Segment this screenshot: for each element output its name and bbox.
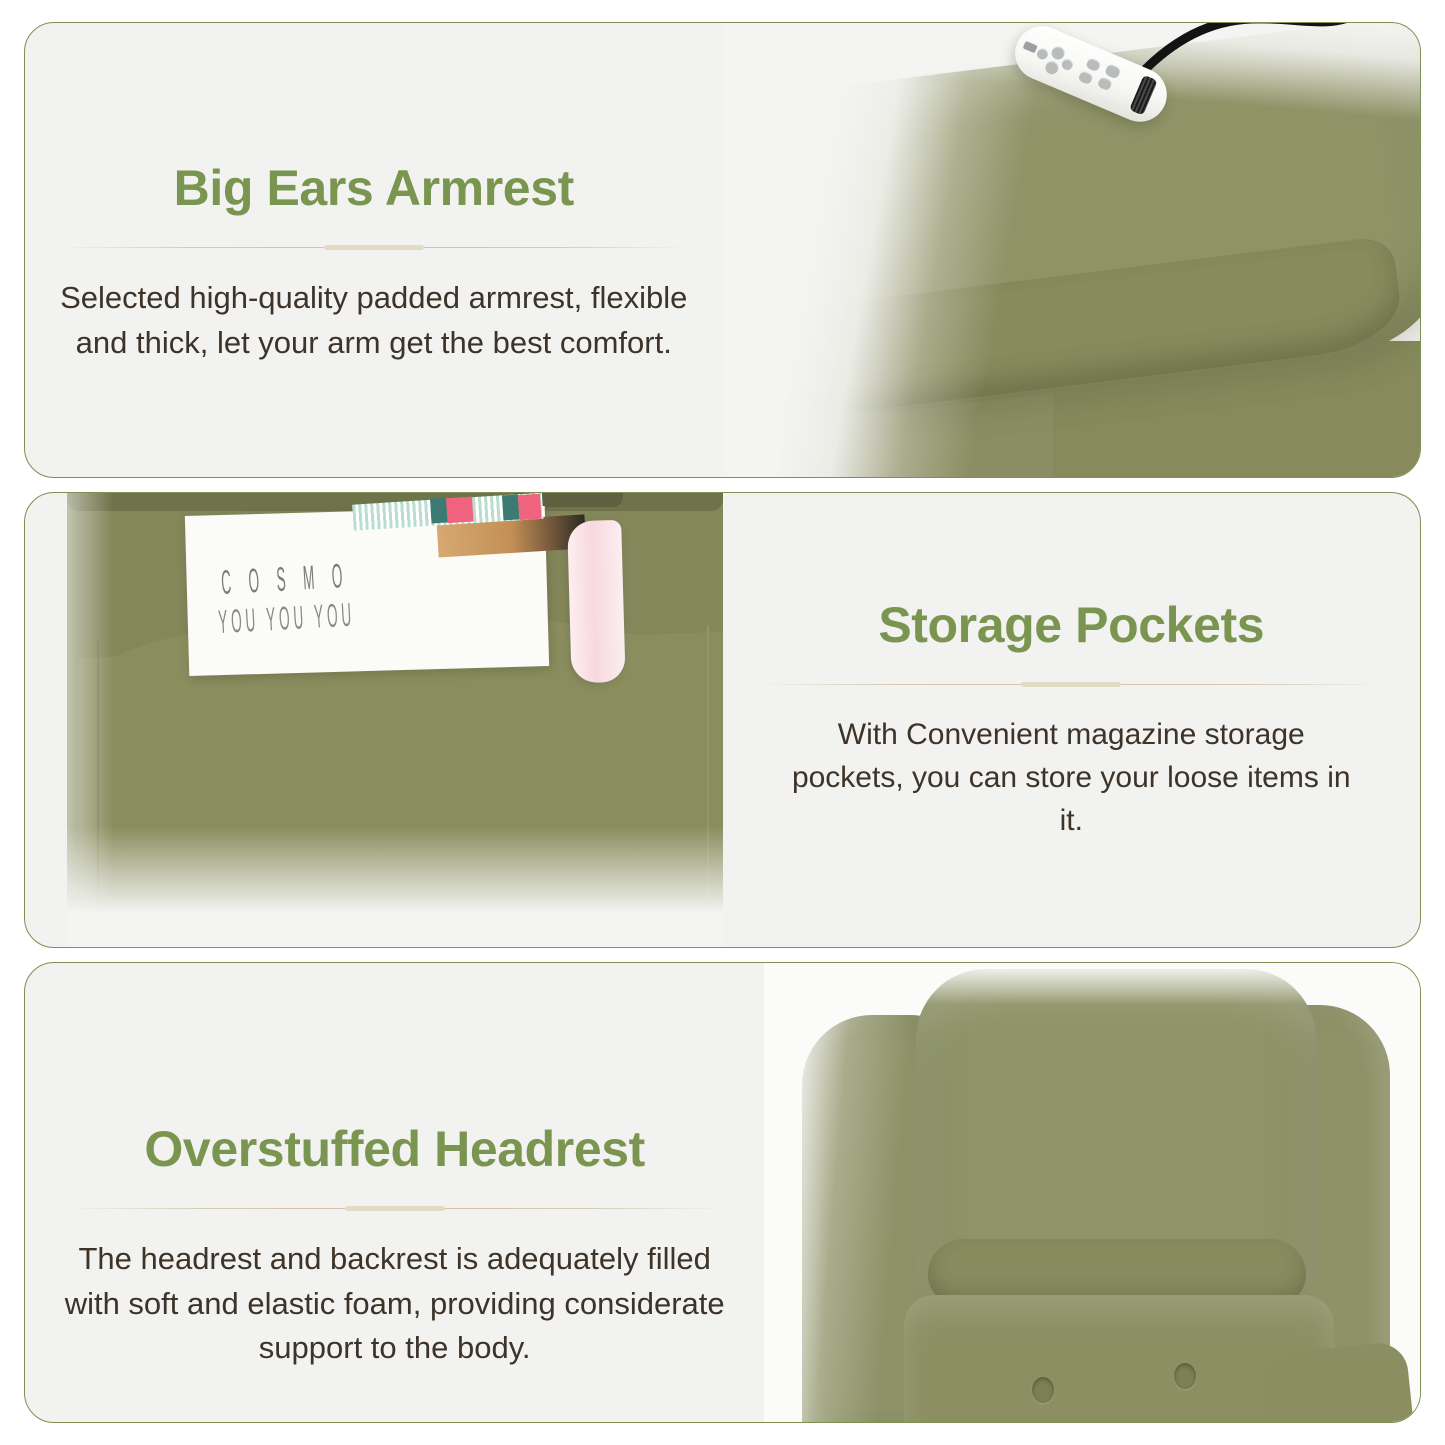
magazine-color-block-pink-1 xyxy=(446,497,474,524)
panel-2-heading: Storage Pockets xyxy=(878,598,1264,652)
product-feature-infographic: Big Ears Armrest Selected high-quality p… xyxy=(0,0,1445,1445)
panel-1-body-text: Selected high-quality padded armrest, fl… xyxy=(59,276,689,365)
armrest-cushion-photo xyxy=(723,23,1421,477)
armrest-scene xyxy=(723,23,1421,477)
feature-panel-big-ears-armrest: Big Ears Armrest Selected high-quality p… xyxy=(24,22,1421,478)
storage-pocket-photo: C O S M O YOU YOU YOU xyxy=(67,493,723,947)
pocket-bottom-fade xyxy=(67,827,723,947)
panel-3-heading: Overstuffed Headrest xyxy=(144,1122,645,1176)
feature-panel-storage-pockets: Storage Pockets With Convenient magazine… xyxy=(24,492,1421,948)
feature-panel-overstuffed-headrest: Overstuffed Headrest The headrest and ba… xyxy=(24,962,1421,1423)
headrest-scene xyxy=(764,963,1420,1422)
storage-pocket-scene: C O S M O YOU YOU YOU xyxy=(67,493,723,947)
panel-2-text-column: Storage Pockets With Convenient magazine… xyxy=(723,493,1421,947)
panel-1-text-column: Big Ears Armrest Selected high-quality p… xyxy=(25,23,723,477)
panel-1-divider xyxy=(59,245,689,250)
magazine-rolled-page xyxy=(567,520,626,683)
panel-1-heading: Big Ears Armrest xyxy=(174,161,574,215)
panel-3-divider xyxy=(65,1206,725,1211)
pocket-left-fade xyxy=(67,493,113,947)
magazine-color-block-pink-2 xyxy=(518,494,542,520)
panel-2-divider xyxy=(757,682,1387,687)
magazine-color-block-teal-2 xyxy=(502,494,520,520)
panel-3-text-column: Overstuffed Headrest The headrest and ba… xyxy=(25,963,764,1422)
headrest-photo xyxy=(764,963,1420,1422)
panel-3-body-text: The headrest and backrest is adequately … xyxy=(59,1237,730,1371)
panel-2-body-text: With Convenient magazine storage pockets… xyxy=(791,713,1351,843)
magazine: C O S M O YOU YOU YOU xyxy=(185,506,549,676)
